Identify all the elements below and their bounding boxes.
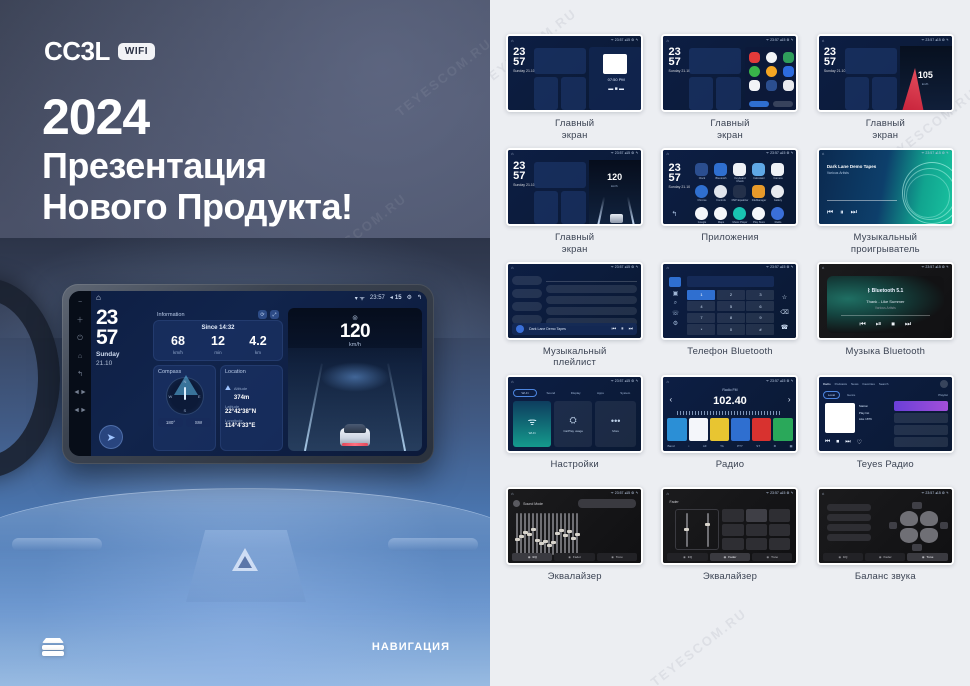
screen-thumbnail[interactable]: ⌂ ᯤ 23:57 ◂15 ⚙ ↰: [817, 487, 954, 565]
station-row[interactable]: [894, 401, 948, 411]
star-icon[interactable]: ☆: [782, 294, 787, 301]
settings-tab[interactable]: Apps: [590, 389, 612, 397]
page-title: 2024 Презентация Нового Продукта!: [42, 92, 353, 227]
metric-unit: km/h: [158, 350, 198, 355]
teyes-tab[interactable]: Podcasts: [835, 382, 847, 386]
tab-tone[interactable]: ◉ Tone: [597, 553, 637, 561]
radio-toolbar-item[interactable]: ⚙: [774, 444, 777, 448]
teyes-chip[interactable]: Local: [823, 391, 840, 399]
metric-duration: 12 min: [198, 335, 238, 355]
dial-key[interactable]: 5: [717, 301, 745, 311]
thumbnail-caption: Эквалайзер: [703, 571, 757, 593]
thumbnail-caption: Эквалайзер: [548, 571, 602, 593]
metric-value: 4.2: [238, 335, 278, 348]
screens-gallery-panel: TEYESCOM.RU TEYESCOM.RU TEYESCOM.RU ⌂ ᯤ …: [490, 0, 970, 686]
teyes-tab[interactable]: Radio: [823, 382, 831, 386]
status-icons: ᯤ 23:57 ◂15 ⚙ ↰: [611, 38, 639, 43]
home-icon: ⌂: [666, 38, 668, 43]
home-icon: ⌂: [822, 38, 824, 43]
status-icons: ᯤ 23:57 ◂15 ⚙ ↰: [611, 265, 639, 270]
home-icon: ⌂: [822, 491, 824, 496]
thumbnail-caption: Музыкальныйпроигрыватель: [851, 232, 920, 256]
app-tile[interactable]: DSP Equalizer: [731, 185, 748, 202]
altitude-label: Altitude: [234, 386, 247, 391]
settings-tab[interactable]: System: [614, 389, 636, 397]
balance-right-button[interactable]: [940, 522, 948, 529]
recent-calls-icon[interactable]: ☏: [672, 310, 680, 317]
app-tile[interactable]: Calculator: [750, 163, 767, 183]
thumbnail-caption: Главныйэкран: [710, 118, 749, 142]
next-icon[interactable]: ⏭: [845, 439, 850, 446]
balance-front-button[interactable]: [912, 502, 922, 509]
tone-preset[interactable]: [722, 524, 743, 536]
screen-thumbnail[interactable]: ⌂ ᯤ 23:57 ◂15 ⚙ ↰ 2357Sunday 21.10 105 k…: [817, 34, 954, 112]
screen-thumbnail[interactable]: ⌂ ᯤ 23:57 ◂15 ⚙ ↰ 2357Sunday 21.10: [661, 34, 798, 112]
teyes-meta: Like 1876: [859, 416, 891, 422]
radio-band-label: Radio FM: [663, 388, 796, 392]
fader-slider[interactable]: [686, 513, 688, 547]
compass-label-e: E: [198, 394, 201, 399]
playlist-nav-item[interactable]: [512, 276, 542, 285]
clock-widget: 2357Sunday 21.10: [668, 163, 690, 189]
settings-card-label: Wi-Fi: [529, 431, 536, 435]
screen-thumbnail[interactable]: ⌂ ᯤ 23:57 ◂15 ⚙ ↰ 2357Sunday 21.10 120 k…: [506, 148, 643, 226]
tone-preset[interactable]: [722, 538, 743, 550]
dial-key[interactable]: 3: [746, 290, 774, 300]
screen-thumbnail[interactable]: ⌂ ᯤ 23:57 ◂15 ⚙ ↰ Wi-Fi Sound Display Ap…: [506, 375, 643, 453]
hero-footer: НАВИГАЦИЯ: [0, 616, 490, 686]
tone-preset[interactable]: [746, 509, 767, 521]
prev-icon[interactable]: ⏮: [827, 209, 833, 217]
radio-preset[interactable]: [710, 418, 729, 441]
speed-value: 120: [288, 322, 422, 341]
next-icon[interactable]: ⏭: [629, 326, 634, 332]
radio-toolbar-item[interactable]: PTY: [737, 444, 743, 448]
volume-value: 15: [395, 295, 402, 301]
keypad-icon[interactable]: [669, 277, 681, 287]
prev-icon[interactable]: ⏮: [859, 321, 865, 329]
play-pause-icon[interactable]: ⏯: [876, 321, 882, 329]
clock-widget: 23 57 Sunday 21.10 ➤: [96, 308, 148, 451]
metric-value: 68: [158, 335, 198, 348]
location-title: Location: [225, 369, 278, 375]
model-name: CC3L: [44, 36, 110, 67]
air-vent-left: [12, 538, 102, 551]
app-tile[interactable]: Camera: [769, 163, 786, 183]
track-row[interactable]: [546, 307, 637, 315]
button-mic-icon[interactable]: ◄►: [76, 388, 85, 397]
home-icon: ⌂: [822, 151, 824, 156]
app-tile[interactable]: Clock: [693, 163, 710, 183]
stop-icon[interactable]: ⏹: [891, 321, 895, 329]
car-3d-model: [338, 422, 372, 448]
radio-preset[interactable]: [773, 418, 792, 441]
settings-tab[interactable]: Sound: [540, 389, 562, 397]
product-logo: CC3L WIFI: [44, 36, 155, 67]
tone-preset[interactable]: [769, 538, 790, 550]
teyes-chip[interactable]: Genre: [843, 392, 859, 398]
app-tile[interactable]: Keyboard Check: [731, 163, 748, 183]
next-icon[interactable]: ⏭: [851, 209, 857, 217]
wifi-badge: WIFI: [118, 43, 155, 60]
balance-option[interactable]: [827, 504, 871, 511]
thumbnail-caption: Радио: [716, 459, 744, 481]
home-icon: ⌂: [666, 265, 668, 270]
now-playing-title: Dark Lane Demo Tapes: [529, 327, 606, 331]
call-icon[interactable]: ☎: [781, 324, 788, 331]
track-row[interactable]: [546, 296, 637, 304]
thumbnail-caption: Приложения: [701, 232, 759, 254]
thumbnail-caption: Музыка Bluetooth: [846, 346, 926, 368]
button-volume-up-icon[interactable]: ＋: [76, 316, 85, 325]
playlist-nav-item[interactable]: [512, 289, 542, 298]
station-row[interactable]: [894, 413, 948, 423]
button-mute-icon[interactable]: ◄►: [76, 406, 85, 415]
app-tile[interactable]: Maps: [712, 207, 729, 224]
more-icon[interactable]: •••: [611, 416, 620, 426]
compass-widget[interactable]: Compass N E S W: [153, 365, 216, 452]
refresh-icon[interactable]: ⟳: [258, 310, 267, 319]
navigation-label: НАВИГАЦИЯ: [372, 641, 450, 653]
status-icons: ᯤ 23:57 ◂15 ⚙ ↰: [921, 491, 949, 496]
button-volume-down-icon[interactable]: −: [76, 298, 85, 307]
station-row[interactable]: [894, 437, 948, 447]
screen-thumbnail[interactable]: ⌂ ᯤ 23:57 ◂15 ⚙ ↰ ▣ ⌕ ☏ ⚙ 1 2 3 4: [661, 262, 798, 340]
track-title: Dark Lane Demo Tapes: [827, 164, 876, 169]
next-icon[interactable]: ⏭: [905, 321, 911, 329]
dial-key[interactable]: 4: [687, 301, 715, 311]
car-interior-photo: − ＋ ⏻ ⌂ ↰ ◄► ◄► ⌂ ▾ ᯤ 23:57: [0, 238, 490, 686]
radio-preset[interactable]: [752, 418, 771, 441]
home-icon: ⌂: [666, 151, 668, 156]
tone-preset[interactable]: [746, 538, 767, 550]
dial-key[interactable]: 9: [746, 313, 774, 323]
playlist-nav-item[interactable]: [512, 302, 542, 311]
status-icons: ᯤ 23:57 ◂15 ⚙ ↰: [766, 151, 794, 156]
altitude-value: 374m: [234, 395, 249, 401]
hero-panel: TEYESCOM.RU TEYESCOM.RU TEYESCOM.RU CC3L…: [0, 0, 490, 686]
driving-view-widget[interactable]: ⊚ 120 km/h: [288, 308, 422, 451]
gallery-grid: ⌂ ᯤ 23:57 ◂15 ⚙ ↰ 2357Sunday 21.10 07:50…: [502, 34, 958, 593]
radio-toolbar-item[interactable]: Band: [667, 444, 674, 448]
bluetooth-icon: ᛒ: [867, 288, 870, 294]
clock-hours: 23: [96, 308, 148, 328]
station-row[interactable]: [894, 425, 948, 435]
gallery-item[interactable]: ⌂ ᯤ 23:57 ◂15 ⚙ ↰ 2357Sunday 21.10 120 k…: [502, 148, 647, 256]
status-icons: ᯤ 23:57 ◂15 ⚙ ↰: [766, 379, 794, 384]
volume-icon[interactable]: ◂15: [390, 294, 402, 301]
track-artist: Various Artists: [827, 171, 849, 175]
latitude-value: 22°42'38"N: [225, 409, 278, 415]
track-artist: Various Artists: [819, 306, 952, 310]
app-tile[interactable]: FileManager: [750, 185, 767, 202]
clock-minutes: 57: [96, 328, 148, 348]
radio-frequency: 102.40: [663, 395, 796, 407]
gallery-item[interactable]: ⌂ ᯤ 23:57 ◂15 ⚙ ↰: [813, 487, 958, 593]
tone-preset[interactable]: [769, 524, 790, 536]
gallery-item[interactable]: ⌂ ᯤ 23:57 ◂15 ⚙ ↰ Dark Lane Demo Tapes V…: [813, 148, 958, 256]
trip-metrics: 68 km/h 12 min: [158, 335, 278, 355]
trip-since-label: Since 14:32: [158, 325, 278, 331]
thumbnail-caption: Главныйэкран: [866, 118, 905, 142]
dial-key[interactable]: *: [687, 324, 715, 334]
radio-toolbar-item[interactable]: ▦: [790, 444, 793, 448]
compass-dial: N E S W: [166, 377, 204, 415]
clock-widget: 2357Sunday 21.10: [513, 47, 535, 73]
home-icon: ⌂: [511, 38, 513, 43]
tone-preset[interactable]: [746, 524, 767, 536]
watermark: TEYESCOM.RU: [393, 35, 490, 119]
home-icon: ⌂: [666, 491, 668, 496]
balance-option[interactable]: [827, 534, 871, 541]
metric-speed: 68 km/h: [158, 335, 198, 355]
tab-fader[interactable]: ◉ Fader: [554, 553, 594, 561]
status-icons: ᯤ 23:57 ◂15 ⚙ ↰: [766, 491, 794, 496]
gear-icon[interactable]: ⚙: [407, 294, 412, 301]
metric-unit: min: [198, 350, 238, 355]
balance-option[interactable]: [827, 524, 871, 531]
album-art: [825, 403, 855, 433]
dial-key[interactable]: 1: [687, 290, 715, 300]
clock-date: 21.10: [96, 360, 148, 368]
gallery-item[interactable]: ⌂ ᯤ 23:57 ◂15 ⚙ ↰ ▣ ⌕ ☏ ⚙ 1 2 3 4: [657, 262, 802, 370]
tab-tone[interactable]: ◉ Tone: [907, 553, 947, 561]
hazard-triangle-icon[interactable]: [232, 548, 262, 575]
teyes-tab[interactable]: Search: [879, 382, 889, 386]
back-icon[interactable]: ↰: [417, 294, 422, 301]
compass-direction-button[interactable]: SW: [186, 418, 211, 427]
clock-widget: 2357Sunday 21.10: [513, 161, 535, 187]
search-icon[interactable]: ⌕: [674, 300, 677, 307]
thumbnail-caption: Телефон Bluetooth: [687, 346, 773, 368]
thumbnail-caption: Главныйэкран: [555, 118, 594, 142]
thumbnail-caption: Музыкальныйплейлист: [543, 346, 607, 370]
information-title: Information: [157, 312, 255, 318]
tab-fader[interactable]: ◉ Fader: [865, 553, 905, 561]
watermark: TEYESCOM.RU: [648, 605, 750, 686]
tab-eq[interactable]: ◉ EQ: [667, 553, 707, 561]
compass-label-w: W: [169, 394, 173, 399]
bt-version-label: Bluetooth 5.1: [872, 288, 904, 294]
screen-thumbnail[interactable]: ⌂ ᯤ 23:57 ◂15 ⚙ ↰ ᛒ Bluetooth 5.1 Thank …: [817, 262, 954, 340]
status-icons: ᯤ 23:57 ◂15 ⚙ ↰: [921, 151, 949, 156]
app-tile[interactable]: Controls: [712, 185, 729, 202]
preset-selector[interactable]: [578, 499, 636, 508]
longitude-value: 114°4'33"E: [225, 423, 278, 429]
speed-value: 105: [918, 70, 933, 80]
radio-toolbar-item[interactable]: TA: [720, 444, 724, 448]
button-back-icon[interactable]: ↰: [76, 370, 85, 379]
gallery-item[interactable]: ⌂ ᯤ 23:57 ◂15 ⚙ ↰ Sound Mode: [502, 487, 647, 593]
section-title: Fader: [669, 500, 678, 504]
settings-icon[interactable]: ⚙: [673, 320, 678, 327]
gallery-item[interactable]: Radio Podcasts News Favorites Search Loc…: [813, 375, 958, 481]
speaker-matrix[interactable]: [900, 511, 938, 543]
head-unit-device: − ＋ ⏻ ⌂ ↰ ◄► ◄► ⌂ ▾ ᯤ 23:57: [62, 284, 434, 464]
app-tile[interactable]: Play Store: [750, 207, 767, 224]
gallery-item[interactable]: ⌂ ᯤ 23:57 ◂15 ⚙ ↰ Fader: [657, 487, 802, 593]
radio-toolbar-item[interactable]: ST: [756, 444, 760, 448]
screen-thumbnail[interactable]: ⌂ ᯤ 23:57 ◂15 ⚙ ↰ 2357Sunday 21.10 07:50…: [506, 34, 643, 112]
gallery-item[interactable]: ⌂ ᯤ 23:57 ◂15 ⚙ ↰ ᛒ Bluetooth 5.1 Thank …: [813, 262, 958, 370]
teyes-tab[interactable]: News: [851, 382, 859, 386]
gallery-item[interactable]: ⌂ ᯤ 23:57 ◂15 ⚙ ↰ 2357Sunday 21.10 105 k…: [813, 34, 958, 142]
home-icon: ⌂: [511, 265, 513, 270]
gallery-item[interactable]: ⌂ ᯤ 23:57 ◂15 ⚙ ↰ 2357Sunday 21.10 Clock…: [657, 148, 802, 256]
app-tile[interactable]: Google: [693, 207, 710, 224]
app-tile[interactable]: Radio: [769, 207, 786, 224]
track-title: Thank - Like Summer: [819, 299, 952, 304]
status-bar: ⌂ ▾ ᯤ 23:57 ◂15 ⚙ ↰: [91, 291, 427, 304]
headlight-icon: ⊚: [288, 314, 422, 322]
clock-widget: 2357Sunday 21.10: [824, 47, 846, 73]
dial-key[interactable]: 8: [717, 313, 745, 323]
tab-eq[interactable]: ◉ EQ: [823, 553, 863, 561]
contacts-icon[interactable]: ▣: [673, 290, 679, 297]
head-unit-screen[interactable]: ⌂ ▾ ᯤ 23:57 ◂15 ⚙ ↰ 23 57: [91, 291, 427, 456]
balance-option[interactable]: [827, 514, 871, 521]
wifi-icon: ▾ ᯤ: [355, 294, 365, 302]
gallery-item[interactable]: ⌂ ᯤ 23:57 ◂15 ⚙ ↰: [502, 262, 647, 370]
dial-key[interactable]: 7: [687, 313, 715, 323]
radio-preset[interactable]: [731, 418, 750, 441]
gallery-item[interactable]: ⌂ ᯤ 23:57 ◂15 ⚙ ↰ Wi-Fi Sound Display Ap…: [502, 375, 647, 481]
settings-tab[interactable]: Wi-Fi: [513, 389, 537, 397]
app-tile[interactable]: Music Player: [731, 207, 748, 224]
app-tile[interactable]: Gallery: [769, 185, 786, 202]
dial-key[interactable]: #: [746, 324, 774, 334]
teyes-chip[interactable]: Playlist: [938, 393, 948, 397]
navigation-arrow-icon[interactable]: ➤: [99, 425, 123, 449]
status-icons: ᯤ 23:57 ◂15 ⚙ ↰: [921, 38, 949, 43]
tab-eq[interactable]: ◉ EQ: [512, 553, 552, 561]
dial-key[interactable]: 6: [746, 301, 774, 311]
headline-year: 2024: [42, 92, 353, 142]
presentation-page: TEYESCOM.RU TEYESCOM.RU TEYESCOM.RU CC3L…: [0, 0, 970, 686]
compass-label-n: N: [184, 379, 187, 384]
stop-icon[interactable]: ⏹: [836, 439, 839, 446]
home-icon: ⌂: [822, 265, 824, 270]
thumbnail-caption: Настройки: [550, 459, 598, 481]
car-icon: ⛭: [570, 415, 577, 426]
head-unit-side-buttons[interactable]: − ＋ ⏻ ⌂ ↰ ◄► ◄►: [69, 291, 91, 456]
screen-thumbnail[interactable]: ⌂ ᯤ 23:57 ◂15 ⚙ ↰ Sound Mode: [506, 487, 643, 565]
information-widget: Information ⟳ ⤢ Since 14:32 68: [153, 308, 283, 361]
compass-label-s: S: [184, 408, 187, 413]
track-row[interactable]: [546, 285, 637, 293]
mountain-icon: ⛰: [225, 385, 231, 393]
balance-left-button[interactable]: [889, 522, 897, 529]
favorite-icon[interactable]: ♡: [857, 439, 862, 446]
headline-line-2: Нового Продукта!: [42, 187, 353, 228]
status-icons: ᯤ 23:57 ◂15 ⚙ ↰: [611, 379, 639, 384]
wifi-icon: ᯤ: [528, 414, 537, 428]
preset-label: Sound Mode: [523, 502, 543, 506]
home-icon: ⌂: [511, 491, 513, 496]
thumbnail-caption: Баланс звука: [855, 571, 916, 593]
back-icon[interactable]: ↰: [671, 210, 677, 218]
air-vent-right: [388, 538, 478, 551]
gallery-item[interactable]: ⌂ ᯤ 23:57 ◂15 ⚙ ↰ 2357Sunday 21.10: [657, 34, 802, 142]
track-time: 07:50 PM: [597, 77, 635, 82]
gallery-item[interactable]: ⌂ ᯤ 23:57 ◂15 ⚙ ↰ Radio FM ‹ › 102.40: [657, 375, 802, 481]
pause-icon[interactable]: ⏸: [840, 209, 844, 217]
home-icon[interactable]: ⌂: [96, 293, 101, 302]
screen-thumbnail[interactable]: ⌂ ᯤ 23:57 ◂15 ⚙ ↰ Dark Lane Demo Tapes V…: [817, 148, 954, 226]
status-icons: ᯤ 23:57 ◂15 ⚙ ↰: [611, 151, 639, 156]
screen-thumbnail[interactable]: Radio Podcasts News Favorites Search Loc…: [817, 375, 954, 453]
screen-thumbnail[interactable]: ⌂ ᯤ 23:57 ◂15 ⚙ ↰ 2357Sunday 21.10 Clock…: [661, 148, 798, 226]
radio-toolbar-item[interactable]: AF: [703, 444, 707, 448]
radio-preset[interactable]: [667, 418, 686, 441]
settings-tab[interactable]: Display: [565, 389, 587, 397]
headline-line-1: Презентация: [42, 146, 353, 187]
home-icon: ⌂: [666, 379, 668, 384]
search-icon[interactable]: ⌕: [688, 444, 690, 448]
tone-preset[interactable]: [722, 509, 743, 521]
status-icons: ᯤ 23:57 ◂15 ⚙ ↰: [921, 265, 949, 270]
dial-key[interactable]: 2: [717, 290, 745, 300]
preset-icon: [513, 500, 520, 507]
teyes-tab[interactable]: Favorites: [863, 382, 875, 386]
pause-icon[interactable]: ⏸: [621, 326, 624, 332]
status-icons: ᯤ 23:57 ◂15 ⚙ ↰: [611, 491, 639, 496]
compass-heading-button[interactable]: 180°: [158, 418, 183, 427]
button-power-icon[interactable]: ⏻: [76, 334, 85, 343]
location-widget[interactable]: Location ⛰ Altitude 374m: [220, 365, 283, 452]
backspace-icon[interactable]: ⌫: [780, 309, 788, 316]
home-icon: ⌂: [511, 379, 513, 384]
dial-key[interactable]: 0: [717, 324, 745, 334]
thumbnail-caption: Главныйэкран: [555, 232, 594, 256]
metric-value: 12: [198, 335, 238, 348]
tone-preset[interactable]: [769, 509, 790, 521]
tab-tone[interactable]: ◉ Tone: [752, 553, 792, 561]
gallery-item[interactable]: ⌂ ᯤ 23:57 ◂15 ⚙ ↰ 2357Sunday 21.10 07:50…: [502, 34, 647, 142]
speed-value: 120: [607, 172, 622, 182]
home-icon: ⌂: [511, 151, 513, 156]
metric-unit: km: [238, 350, 278, 355]
layers-icon[interactable]: [42, 638, 64, 656]
balance-rear-button[interactable]: [912, 544, 922, 551]
dial-field[interactable]: [687, 276, 774, 287]
app-tile[interactable]: Bluetooth: [712, 163, 729, 183]
expand-icon[interactable]: ⤢: [270, 310, 279, 319]
screen-thumbnail[interactable]: ⌂ ᯤ 23:57 ◂15 ⚙ ↰ Radio FM ‹ › 102.40: [661, 375, 798, 453]
screen-thumbnail[interactable]: ⌂ ᯤ 23:57 ◂15 ⚙ ↰: [506, 262, 643, 340]
clock-widget: 2357Sunday 21.10: [668, 47, 690, 73]
tab-fader[interactable]: ◉ Fader: [710, 553, 750, 561]
screen-thumbnail[interactable]: ⌂ ᯤ 23:57 ◂15 ⚙ ↰ Fader: [661, 487, 798, 565]
status-icons: ᯤ 23:57 ◂15 ⚙ ↰: [766, 265, 794, 270]
status-clock: 23:57: [370, 295, 385, 301]
prev-icon[interactable]: ⏮: [825, 439, 830, 446]
metric-distance: 4.2 km: [238, 335, 278, 355]
radio-preset[interactable]: [689, 418, 708, 441]
status-icons: ᯤ 23:57 ◂15 ⚙ ↰: [766, 38, 794, 43]
button-home-icon[interactable]: ⌂: [76, 352, 85, 361]
app-tile[interactable]: Chrome: [693, 185, 710, 202]
thumbnail-caption: Teyes Радио: [857, 459, 914, 481]
prev-icon[interactable]: ⏮: [612, 326, 617, 332]
speed-unit: km/h: [288, 342, 422, 348]
clock-weekday: Sunday: [96, 351, 148, 359]
avatar[interactable]: [940, 380, 948, 388]
fader-slider[interactable]: [707, 513, 709, 547]
